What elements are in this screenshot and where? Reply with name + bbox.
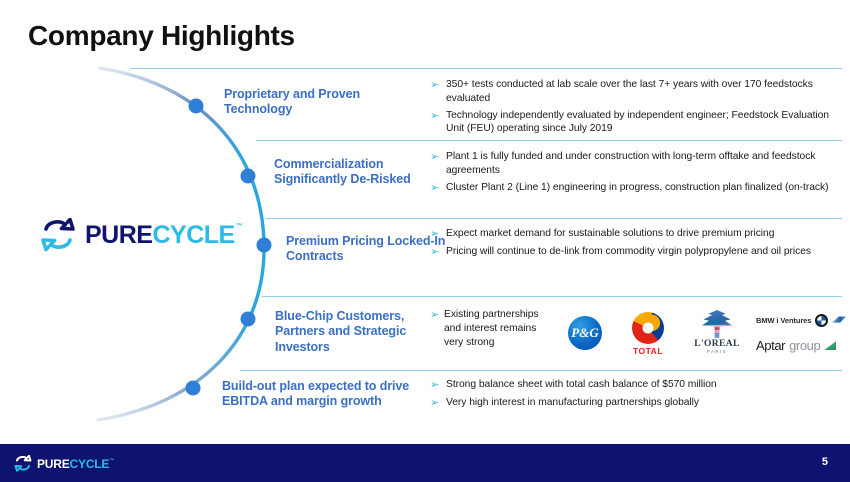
arrow-bullet-icon: ➢ [430, 150, 446, 165]
total-mark-icon [632, 312, 664, 344]
bullet-text: Technology independently evaluated by in… [446, 109, 842, 137]
footer-trademark-symbol: ™ [109, 458, 114, 464]
section-bullets-4: ➢ Existing partnerships and interest rem… [444, 308, 554, 352]
aptar-triangle-icon [824, 341, 836, 350]
bullet-text: Expect market demand for sustainable sol… [446, 227, 842, 241]
loreal-logo-subtext: PARIS [686, 349, 748, 354]
total-logo-text: TOTAL [622, 346, 674, 356]
purecycle-wordmark: PURE CYCLE ™ [85, 221, 242, 250]
arrow-bullet-icon: ➢ [430, 78, 446, 93]
recycle-arrows-icon [40, 218, 76, 252]
separator-top [130, 68, 842, 69]
bullet-text: Cluster Plant 2 (Line 1) engineering in … [446, 181, 842, 195]
aptar-logo-text-b: group [789, 338, 820, 353]
bullet-item: ➢ Plant 1 is fully funded and under cons… [430, 150, 842, 178]
bullet-item: ➢ Expect market demand for sustainable s… [430, 227, 842, 242]
bullet-item: ➢ Existing partnerships and interest rem… [444, 308, 554, 349]
logo-text-cycle: CYCLE [152, 221, 234, 250]
separator-2 [266, 218, 842, 219]
curve-dot-2 [241, 169, 256, 184]
loreal-band-text: Nevado [702, 325, 732, 333]
bullet-text: Existing partnerships and interest remai… [444, 308, 554, 349]
footer-purecycle-logo: PURE CYCLE ™ [14, 455, 114, 472]
arrow-bullet-icon: ➢ [430, 227, 446, 242]
arrow-bullet-icon: ➢ [430, 396, 446, 411]
bullet-item: ➢ Cluster Plant 2 (Line 1) engineering i… [430, 181, 842, 196]
bmw-roundel-icon [815, 314, 828, 327]
arrow-bullet-icon: ➢ [430, 109, 446, 124]
separator-3 [262, 296, 842, 297]
curve-dot-1 [189, 99, 204, 114]
arrow-bullet-icon: ➢ [430, 378, 446, 393]
arrow-bullet-icon: ➢ [430, 245, 446, 260]
separator-4 [240, 370, 842, 371]
curve-dot-5 [186, 381, 201, 396]
partner-logos: P&G TOTAL Nevado L'OREAL PARIS BMW i Ven… [560, 306, 850, 364]
section-bullets-2: ➢ Plant 1 is fully funded and under cons… [430, 150, 842, 198]
footer-wordmark: PURE CYCLE ™ [37, 457, 114, 471]
slide-canvas: Company Highlights Proprietary and Prove… [0, 0, 850, 482]
bmw-swoosh-icon [832, 316, 846, 325]
bullet-text: 350+ tests conducted at lab scale over t… [446, 78, 842, 106]
loreal-logo-text: L'OREAL [686, 339, 748, 349]
bullet-text: Plant 1 is fully funded and under constr… [446, 150, 842, 178]
section-heading-5: Build-out plan expected to drive EBITDA … [222, 379, 418, 410]
loreal-tree-icon: Nevado [697, 310, 737, 338]
curve-dot-3 [257, 238, 272, 253]
bmw-i-ventures-logo: BMW i Ventures [756, 314, 846, 327]
bullet-item: ➢ Technology independently evaluated by … [430, 109, 842, 137]
footer-logo-text-pure: PURE [37, 457, 70, 471]
section-heading-1: Proprietary and Proven Technology [224, 87, 414, 118]
footer-recycle-arrows-icon [14, 455, 32, 472]
aptar-logo-text-a: Aptar [756, 338, 785, 353]
pg-logo-icon: P&G [568, 316, 602, 350]
bmw-logo-text: BMW i Ventures [756, 316, 811, 325]
bullet-text: Very high interest in manufacturing part… [446, 396, 842, 410]
page-number: 5 [822, 456, 828, 468]
section-heading-2: Commercialization Significantly De-Riske… [274, 157, 454, 188]
section-bullets-1: ➢ 350+ tests conducted at lab scale over… [430, 78, 842, 139]
trademark-symbol: ™ [236, 223, 243, 230]
curve-dot-4 [241, 312, 256, 327]
purecycle-logo: PURE CYCLE ™ [40, 218, 242, 252]
section-bullets-5: ➢ Strong balance sheet with total cash b… [430, 378, 842, 413]
section-heading-4: Blue-Chip Customers, Partners and Strate… [275, 309, 455, 355]
slide-footer: PURE CYCLE ™ 5 [0, 444, 850, 482]
section-bullets-3: ➢ Expect market demand for sustainable s… [430, 227, 842, 262]
arrow-bullet-icon: ➢ [430, 308, 446, 323]
loreal-logo: Nevado L'OREAL PARIS [686, 310, 748, 354]
bullet-text: Pricing will continue to de-link from co… [446, 245, 842, 259]
page-title: Company Highlights [28, 20, 295, 52]
bullet-item: ➢ 350+ tests conducted at lab scale over… [430, 78, 842, 106]
bullet-item: ➢ Strong balance sheet with total cash b… [430, 378, 842, 393]
arrow-bullet-icon: ➢ [430, 181, 446, 196]
bullet-item: ➢ Very high interest in manufacturing pa… [430, 396, 842, 411]
logo-text-pure: PURE [85, 221, 152, 250]
separator-1 [256, 140, 842, 141]
bullet-text: Strong balance sheet with total cash bal… [446, 378, 842, 392]
aptargroup-logo: Aptar group [756, 338, 836, 353]
total-logo: TOTAL [622, 312, 674, 356]
footer-logo-text-cycle: CYCLE [70, 457, 110, 471]
bullet-item: ➢ Pricing will continue to de-link from … [430, 245, 842, 260]
